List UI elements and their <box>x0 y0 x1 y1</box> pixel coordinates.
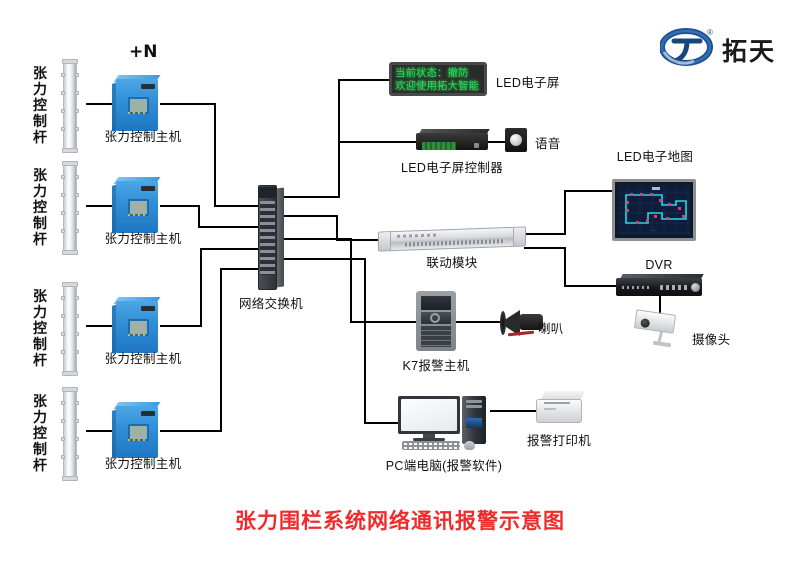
wire-to-dvr <box>564 285 618 287</box>
wire-to-led-controller <box>338 141 418 143</box>
tension-pole-2 <box>63 162 77 254</box>
tension-host-3 <box>112 297 162 355</box>
wire-pole1-host1 <box>86 103 114 105</box>
wire-host3-switch <box>200 248 260 250</box>
wire-to-pc <box>364 422 400 424</box>
linkage-module-icon <box>378 226 526 251</box>
tension-host-2 <box>112 177 162 235</box>
wire-switch-branch1 <box>282 196 340 198</box>
plus-n-label: +N <box>129 42 157 62</box>
voice-module-icon <box>505 128 527 152</box>
dvr-label: DVR <box>645 258 672 272</box>
tension-host-1 <box>112 75 162 133</box>
linkage-module-label: 联动模块 <box>426 252 477 271</box>
pole-label-1: 张力控制杆 <box>32 65 48 145</box>
brand-logo: ® 拓天 <box>660 28 792 68</box>
tension-pole-4 <box>63 388 77 480</box>
led-controller-label: LED电子屏控制器 <box>401 157 503 176</box>
wire-host2-down <box>198 205 200 227</box>
wire-host3-up <box>200 248 202 327</box>
wire-host1-down <box>214 103 216 206</box>
wire-branch4-down <box>364 258 366 423</box>
wire-host4-out <box>160 430 222 432</box>
camera-label: 摄像头 <box>692 329 730 348</box>
wire-linkage-out-up <box>524 233 566 235</box>
wire-k7-horn <box>456 321 502 323</box>
wire-switch-branch4 <box>282 258 366 260</box>
tension-host-label-2: 张力控制主机 <box>105 228 182 247</box>
wire-pole4-host4 <box>86 430 114 432</box>
voice-label: 语音 <box>535 133 561 152</box>
led-screen-line-2: 欢迎使用拓大智能 <box>395 80 481 93</box>
wire-map-riser <box>564 190 566 235</box>
diagram-title: 张力围栏系统网络通讯报警示意图 <box>235 505 565 535</box>
desktop-computer-icon <box>398 396 504 450</box>
led-display-icon: 当前状态：撤防 欢迎使用拓大智能 <box>389 62 487 96</box>
registered-mark: ® <box>707 28 713 37</box>
horn-label: 喇叭 <box>538 318 564 337</box>
wire-branch3-down <box>350 238 352 322</box>
wire-host2-out <box>160 205 200 207</box>
wire-host4-switch <box>220 268 260 270</box>
printer-icon <box>536 391 582 425</box>
wire-host3-out <box>160 325 202 327</box>
wire-branch1-up <box>338 79 340 198</box>
wire-ledctrl-voice <box>488 141 506 143</box>
wire-host2-switch <box>198 226 260 228</box>
brand-name: 拓天 <box>722 32 776 68</box>
tension-host-label-1: 张力控制主机 <box>105 126 182 145</box>
pole-label-4: 张力控制杆 <box>32 393 48 473</box>
pc-label: PC端电脑(报警软件) <box>386 455 503 474</box>
tension-host-4 <box>112 402 162 460</box>
wire-dvr-riser <box>564 247 566 287</box>
diagram-canvas: ® 拓天 张力控制杆 <box>0 0 800 579</box>
wire-branch2-down <box>336 215 338 240</box>
wire-host1-switch <box>214 205 260 207</box>
tension-host-label-4: 张力控制主机 <box>105 453 182 472</box>
wire-switch-branch2 <box>282 215 338 217</box>
camera-icon <box>631 310 689 348</box>
tension-host-label-3: 张力控制主机 <box>105 348 182 367</box>
led-map-label: LED电子地图 <box>617 146 693 165</box>
alarm-keypad-icon <box>416 291 456 351</box>
led-screen-line-1: 当前状态：撤防 <box>395 67 481 80</box>
tension-pole-3 <box>63 283 77 375</box>
wire-pole2-host2 <box>86 205 114 207</box>
wire-pole3-host3 <box>86 325 114 327</box>
led-controller-icon <box>416 129 488 153</box>
tension-pole-1 <box>63 60 77 152</box>
network-switch-icon <box>258 185 284 290</box>
led-map-caption: ···· <box>618 228 690 233</box>
wire-host1-out <box>160 103 216 105</box>
wire-linkage-out-down <box>524 247 566 249</box>
wire-to-led-map <box>564 190 614 192</box>
network-switch-label: 网络交换机 <box>239 293 303 312</box>
wire-to-k7 <box>350 321 418 323</box>
wire-to-led-screen <box>338 79 390 81</box>
wire-host4-up <box>220 268 222 432</box>
wire-switch-branch3 <box>282 238 352 240</box>
led-screen-label: LED电子屏 <box>496 72 560 91</box>
pole-label-3: 张力控制杆 <box>32 288 48 368</box>
k7-alarm-label: K7报警主机 <box>402 355 469 374</box>
led-map-icon: ···· <box>612 179 696 241</box>
dvr-icon <box>616 274 702 296</box>
pole-label-2: 张力控制杆 <box>32 167 48 247</box>
printer-label: 报警打印机 <box>527 430 591 449</box>
